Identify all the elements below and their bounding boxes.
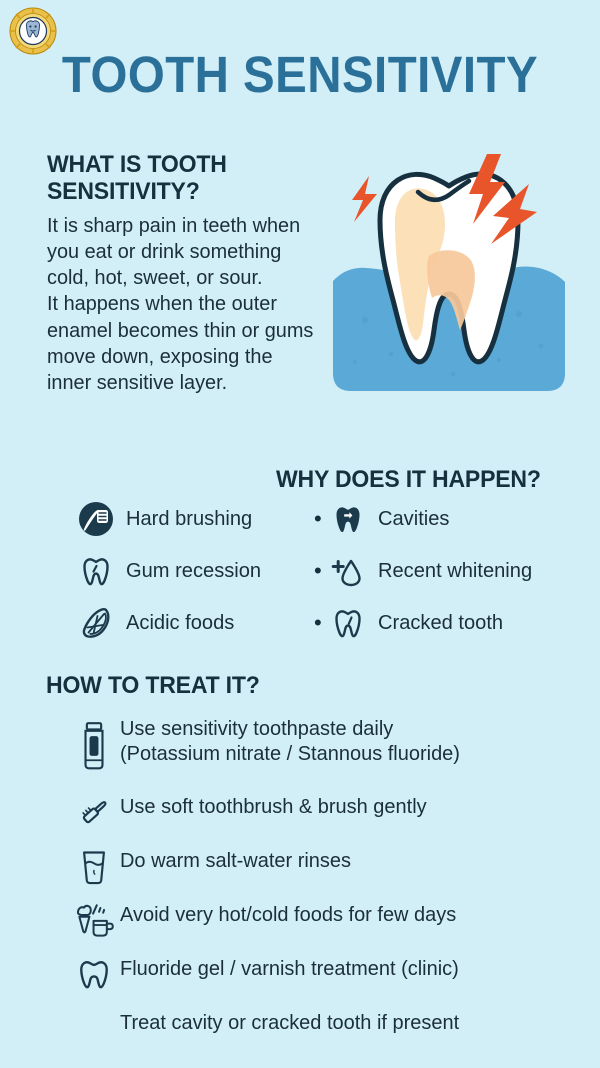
cause-item-recent-whitening: • Recent whitening: [314, 545, 594, 596]
treatment-line: Fluoride gel / varnish treatment (clinic…: [120, 956, 459, 981]
page-title: TOOTH SENSITIVITY: [21, 48, 579, 102]
treatment-item-avoid-hot-cold: Avoid very hot/cold foods for few days: [68, 896, 588, 944]
bullet-point: •: [314, 612, 328, 634]
treatment-text: Use soft toothbrush & brush gently: [120, 788, 427, 819]
treatment-item-fluoride-varnish: Fluoride gel / varnish treatment (clinic…: [68, 950, 588, 998]
treatment-text: Use sensitivity toothpaste daily (Potass…: [120, 710, 460, 766]
treatment-list: Use sensitivity toothpaste daily (Potass…: [68, 710, 588, 1041]
what-is-section: WHAT IS TOOTH SENSITIVITY? It is sharp p…: [47, 152, 347, 396]
treatment-line: (Potassium nitrate / Stannous fluoride): [120, 741, 460, 766]
cracked-tooth-icon: [328, 603, 368, 643]
what-is-body-line: It is sharp pain in teeth when: [47, 213, 338, 239]
cause-label: Cavities: [378, 507, 449, 531]
infographic-poster: TOOTH SENSITIVITY WHAT IS TOOTH SENSITIV…: [0, 0, 600, 1068]
treatment-line: Use soft toothbrush & brush gently: [120, 794, 427, 819]
what-is-body-line: you eat or drink something: [47, 239, 338, 265]
sensitive-tooth-illustration: [333, 148, 565, 391]
bullet-point: •: [314, 508, 328, 530]
cause-item-acidic-foods: Acidic foods: [76, 597, 296, 648]
cause-item-gum-recession: Gum recession: [76, 545, 296, 596]
cause-item-cavities: • Cavities: [314, 493, 594, 544]
treatment-item-soft-toothbrush: Use soft toothbrush & brush gently: [68, 788, 588, 836]
what-is-heading-line-1: WHAT IS TOOTH: [47, 152, 335, 179]
toothpaste-tube-icon: [68, 710, 120, 782]
causes-left-column: Hard brushing Gum recession: [76, 493, 296, 649]
what-is-body-line: cold, hot, sweet, or sour.: [47, 265, 338, 291]
cause-label: Hard brushing: [126, 507, 252, 531]
how-to-treat-heading: HOW TO TREAT IT?: [46, 672, 260, 700]
what-is-body-text: It is sharp pain in teeth when you eat o…: [47, 213, 338, 397]
what-is-body-line: inner sensitive layer.: [47, 370, 338, 396]
treatment-text: Avoid very hot/cold foods for few days: [120, 896, 456, 927]
treatment-line: Do warm salt-water rinses: [120, 848, 351, 873]
what-is-body-line: It happens when the outer: [47, 291, 338, 317]
tooth-gum-recession-icon: [76, 551, 116, 591]
treatment-line: Use sensitivity toothpaste daily: [120, 716, 460, 741]
what-is-body-line: enamel becomes thin or gums: [47, 318, 338, 344]
cause-label: Cracked tooth: [378, 611, 503, 635]
no-icon-placeholder: [68, 1004, 120, 1014]
cause-label: Recent whitening: [378, 559, 532, 583]
water-glass-icon: [68, 842, 120, 890]
cause-item-hard-brushing: Hard brushing: [76, 493, 296, 544]
soft-toothbrush-icon: [68, 788, 120, 836]
ice-cream-and-hot-drink-icon: [68, 896, 120, 944]
whitening-droplet-sparkle-icon: [328, 551, 368, 591]
tooth-outline-icon: [68, 950, 120, 998]
what-is-body-line: move down, exposing the: [47, 344, 338, 370]
tooth-cavity-icon: [328, 499, 368, 539]
treatment-line: Avoid very hot/cold foods for few days: [120, 902, 456, 927]
why-does-it-happen-heading: WHY DOES IT HAPPEN?: [276, 466, 541, 494]
treatment-text: Treat cavity or cracked tooth if present: [120, 1004, 459, 1035]
treatment-line: Treat cavity or cracked tooth if present: [120, 1010, 459, 1035]
what-is-heading-line-2: SENSITIVITY?: [47, 179, 335, 206]
treatment-text: Fluoride gel / varnish treatment (clinic…: [120, 950, 459, 981]
cause-item-cracked-tooth: • Cracked tooth: [314, 597, 594, 648]
bullet-point: •: [314, 560, 328, 582]
toothbrush-circle-icon: [76, 499, 116, 539]
causes-right-column: • Cavities • Recent whitening •: [314, 493, 594, 649]
treatment-item-treat-cavity: Treat cavity or cracked tooth if present: [68, 1004, 588, 1035]
treatment-item-toothpaste: Use sensitivity toothpaste daily (Potass…: [68, 710, 588, 782]
what-is-heading: WHAT IS TOOTH SENSITIVITY?: [47, 152, 335, 206]
lemon-slice-icon: [76, 603, 116, 643]
cause-label: Gum recession: [126, 559, 261, 583]
treatment-text: Do warm salt-water rinses: [120, 842, 351, 873]
treatment-item-salt-water-rinse: Do warm salt-water rinses: [68, 842, 588, 890]
cause-label: Acidic foods: [126, 611, 234, 635]
